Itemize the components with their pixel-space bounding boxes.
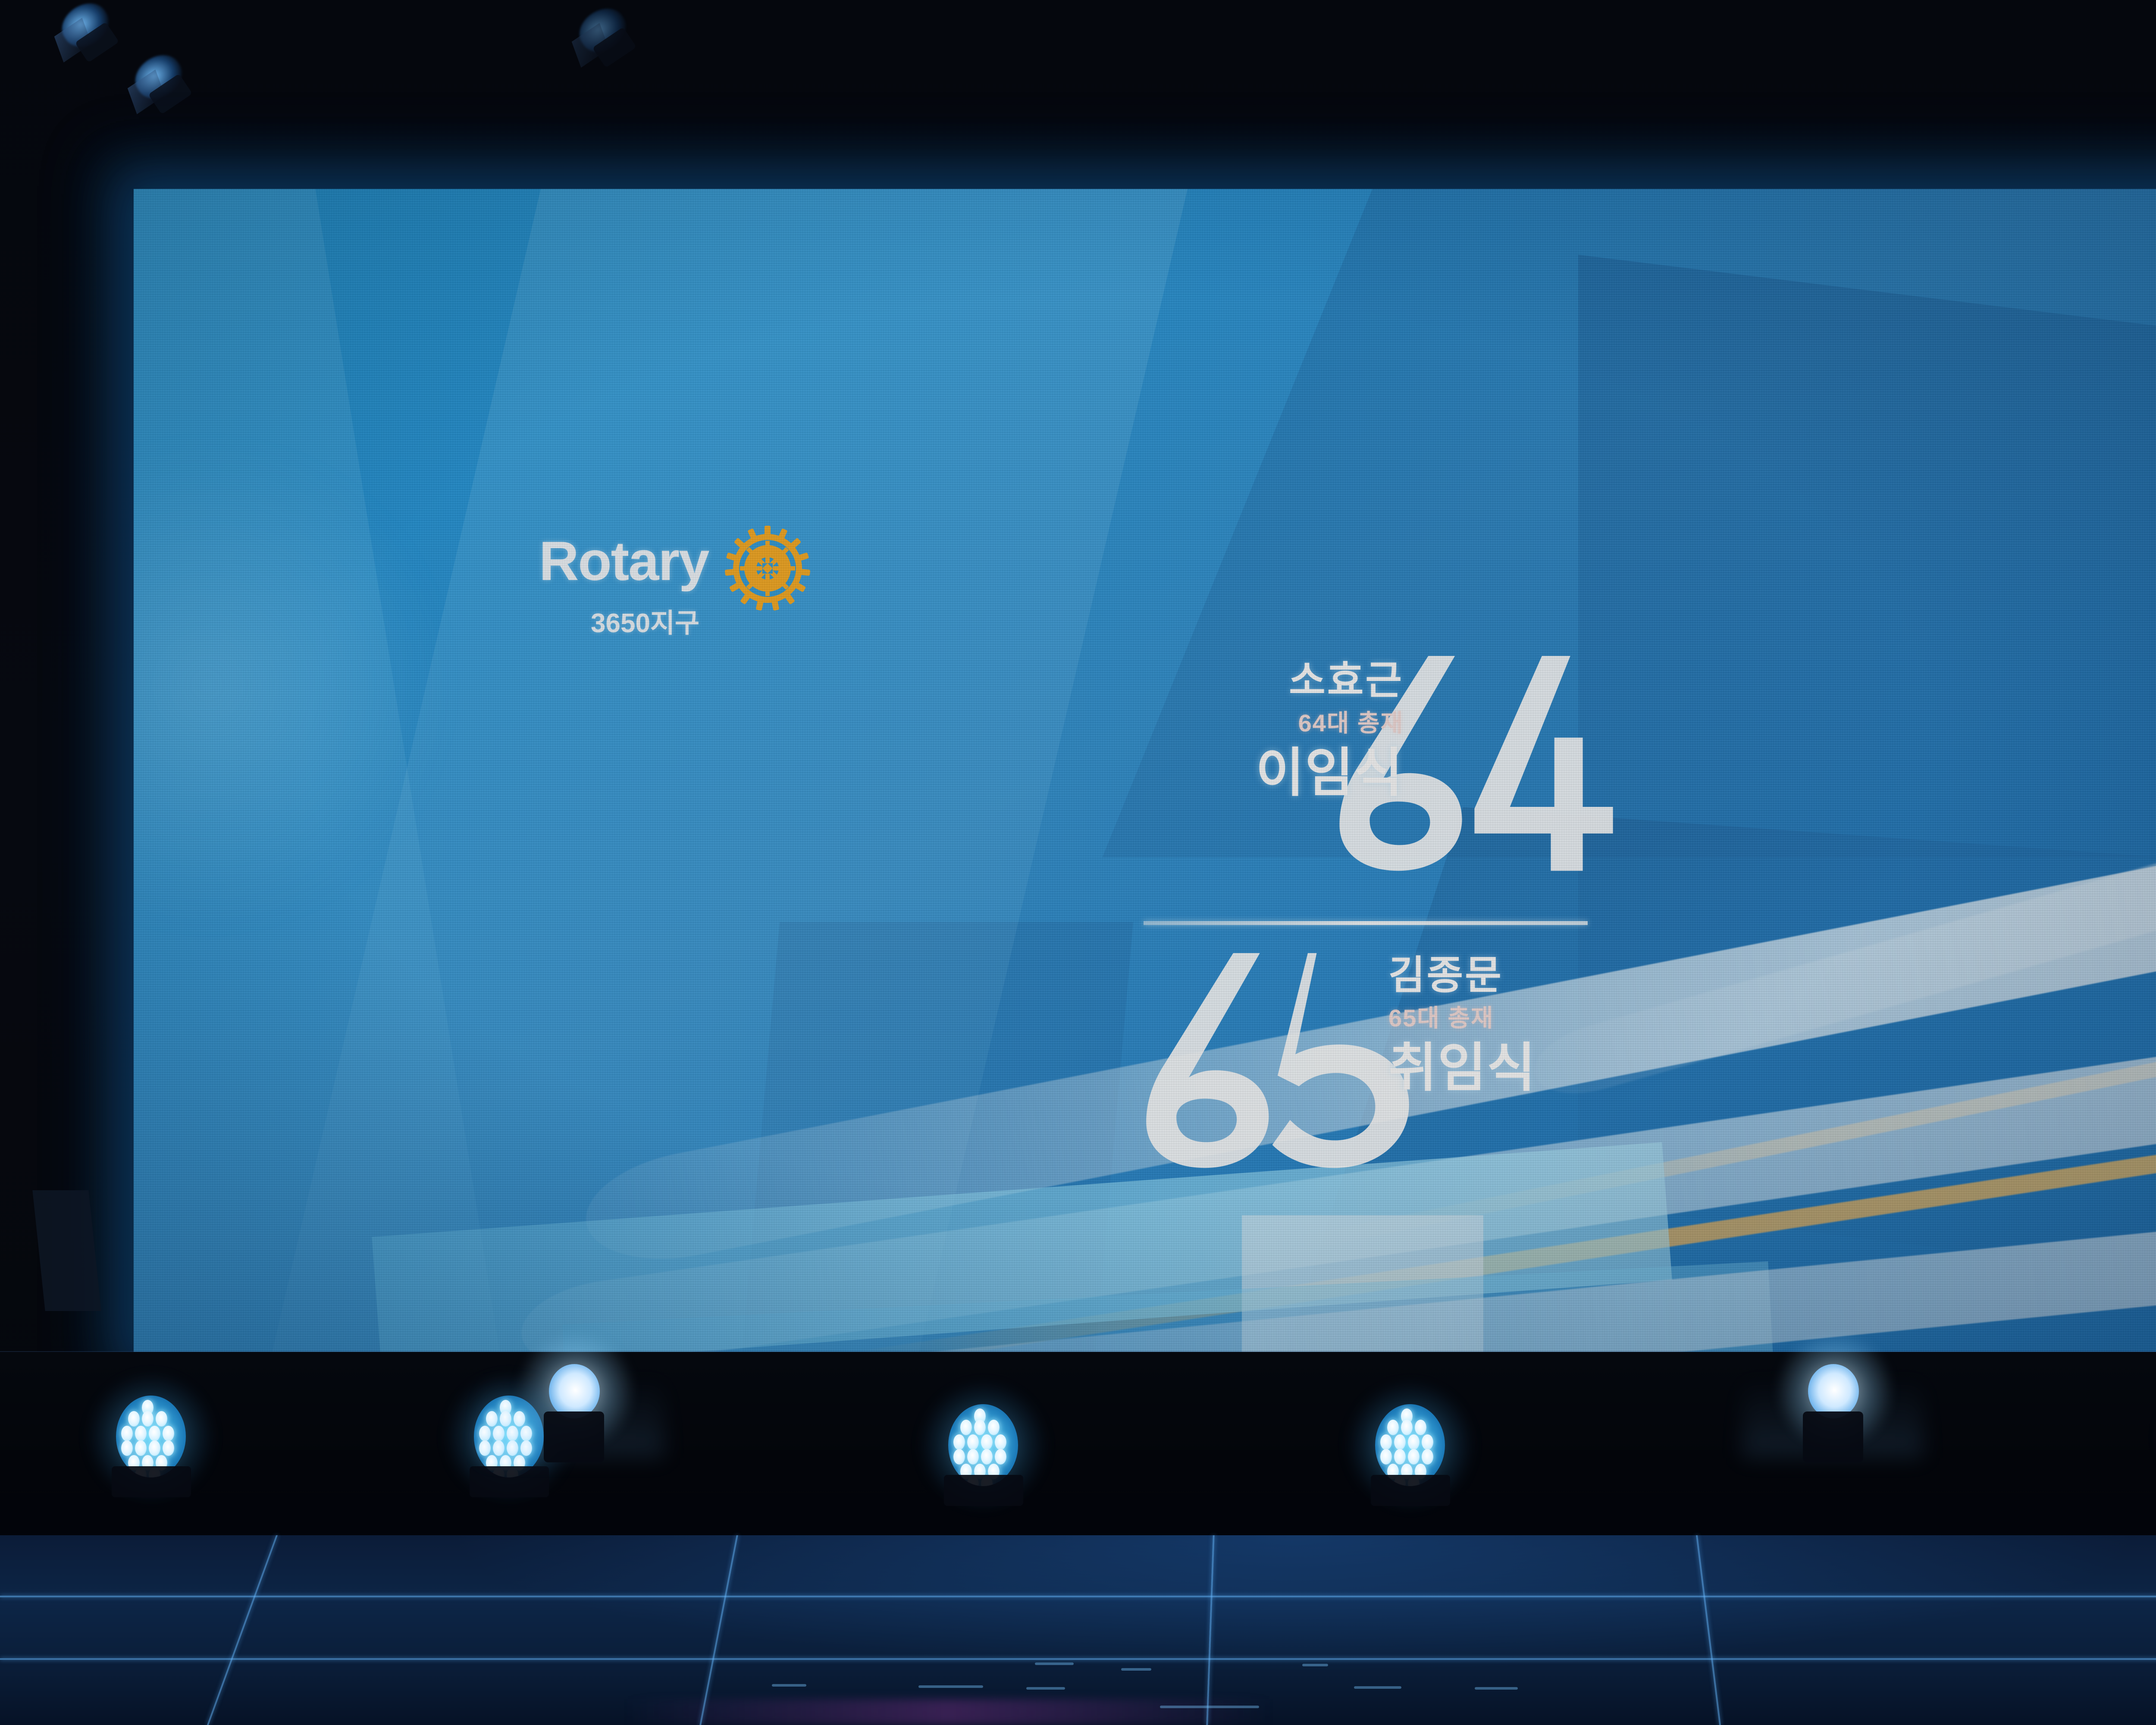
outgoing-governor-name: 소효근 bbox=[1145, 660, 1404, 702]
outgoing-ceremony-label: 이임식 bbox=[1145, 746, 1404, 799]
incoming-ceremony-label: 취임식 bbox=[1388, 1041, 1656, 1094]
floor-tape-mark bbox=[1026, 1687, 1065, 1690]
floor-tape-mark bbox=[1302, 1664, 1328, 1666]
rotary-brand-name: Rotary bbox=[539, 534, 708, 589]
floor-tape-mark bbox=[1354, 1686, 1401, 1689]
floor-tape-mark bbox=[1160, 1706, 1259, 1708]
rotary-district-label: 3650지구 bbox=[591, 601, 699, 640]
rotary-logo: Rotary 3650지구 bbox=[539, 517, 893, 659]
floor-tape-mark bbox=[918, 1685, 983, 1688]
ceremony-title-block: 소효근 64대 총재 이임식 김종문 65대 bbox=[1104, 655, 1686, 1172]
floor-tape-mark bbox=[1475, 1687, 1518, 1690]
led-wall-screen: Rotary 3650지구 bbox=[134, 189, 2156, 1353]
truss-fixture-icon bbox=[573, 9, 638, 60]
led-par-light bbox=[1369, 1402, 1451, 1488]
floor-tape-mark bbox=[1121, 1668, 1151, 1671]
floor-light-spill bbox=[0, 1535, 2156, 1725]
moving-head-spot bbox=[1800, 1361, 1865, 1460]
floor-tape-mark bbox=[772, 1684, 806, 1687]
stage-scene: Rotary 3650지구 bbox=[0, 0, 2156, 1725]
outgoing-governor-title: 64대 총재 bbox=[1145, 711, 1404, 735]
incoming-governor-title: 65대 총재 bbox=[1388, 1006, 1656, 1030]
outgoing-governor-row: 소효근 64대 총재 이임식 bbox=[1104, 655, 1686, 896]
incoming-governor-text: 김종문 65대 총재 취임식 bbox=[1388, 955, 1656, 1094]
rotary-gear-wheel-icon bbox=[724, 525, 811, 612]
floor-tape-mark bbox=[1035, 1662, 1074, 1665]
floor-color-spill bbox=[625, 1699, 1272, 1725]
incoming-governor-row: 김종문 65대 총재 취임식 bbox=[1104, 948, 1686, 1189]
incoming-governor-name: 김종문 bbox=[1388, 955, 1656, 997]
truss-fixture-icon bbox=[56, 3, 121, 54]
outgoing-governor-text: 소효근 64대 총재 이임식 bbox=[1145, 660, 1404, 799]
led-par-light bbox=[110, 1393, 192, 1479]
floor-seam bbox=[0, 1596, 2156, 1597]
section-divider bbox=[1144, 921, 1588, 925]
moving-head-spot bbox=[541, 1361, 606, 1460]
floor-seam bbox=[0, 1658, 2156, 1660]
truss-fixture-icon bbox=[129, 55, 194, 106]
led-par-light bbox=[942, 1402, 1024, 1488]
